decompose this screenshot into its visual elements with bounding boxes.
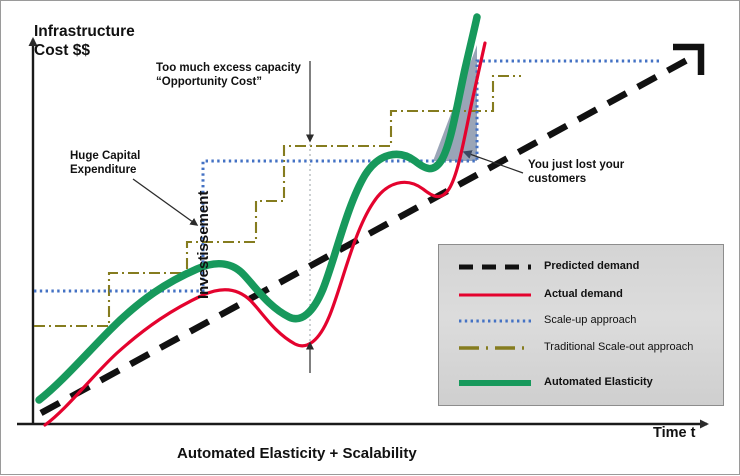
legend-label-scale-up: Scale-up approach [544, 314, 636, 326]
legend-label-automated-elasticity: Automated Elasticity [544, 376, 653, 388]
x-axis-label: Time t [653, 425, 695, 443]
chart-legend: Predicted demand Actual demand Scale-up … [438, 244, 724, 406]
huge-capex-leader [133, 179, 197, 225]
legend-label-actual-demand: Actual demand [544, 288, 623, 300]
chart-canvas: InfrastructureCost $$ Time t Automated E… [0, 0, 740, 475]
y-axis-label: InfrastructureCost $$ [34, 23, 135, 61]
annotation-huge-capital-expenditure: Huge CapitalExpenditure [70, 149, 140, 177]
legend-label-predicted-demand: Predicted demand [544, 260, 639, 272]
predicted-demand-arrowhead [673, 47, 701, 75]
annotation-excess-capacity: Too much excess capacity“Opportunity Cos… [156, 61, 301, 89]
chart-title: Automated Elasticity + Scalability [177, 445, 417, 463]
annotation-investissement: Investissement [195, 191, 212, 299]
annotation-lost-customers: You just lost yourcustomers [528, 158, 624, 186]
series-actual-demand [45, 43, 485, 425]
legend-label-scale-out: Traditional Scale-out approach [544, 341, 693, 353]
